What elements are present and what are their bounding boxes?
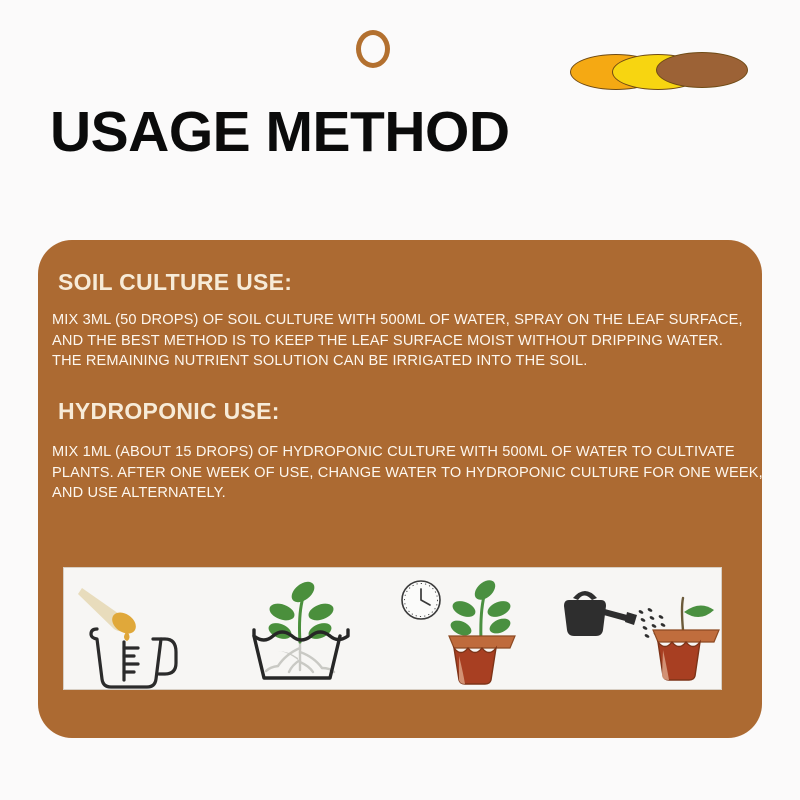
page-title: USAGE METHOD — [50, 104, 510, 161]
section-heading-hydroponic: HYDROPONIC USE: — [58, 398, 280, 425]
pills-ornament — [570, 52, 750, 92]
section-body-hydroponic: MIX 1ML (ABOUT 15 DROPS) OF HYDROPONIC C… — [52, 442, 752, 504]
panel-wait — [393, 568, 557, 689]
pill-brown-icon — [656, 52, 748, 88]
plant-in-water-basin-icon — [254, 578, 348, 678]
illustration-strip — [63, 567, 722, 690]
panel-hydroponic-basin — [228, 568, 392, 689]
potted-seedling-icon — [653, 598, 719, 680]
body-line: AND USE ALTERNATELY. — [52, 483, 752, 504]
usage-method-card: SOIL CULTURE USE: MIX 3ML (50 DROPS) OF … — [38, 240, 762, 738]
potted-plant-icon — [448, 576, 515, 684]
body-line: AND THE BEST METHOD IS TO KEEP THE LEAF … — [52, 331, 752, 352]
measuring-cup-icon — [91, 629, 176, 687]
clock-icon — [402, 581, 440, 619]
section-heading-soil-culture: SOIL CULTURE USE: — [58, 269, 292, 296]
panel-water — [557, 568, 721, 689]
panel-measure — [64, 568, 228, 689]
ring-ornament — [356, 30, 390, 68]
dropper-icon — [78, 588, 140, 641]
body-line: THE REMAINING NUTRIENT SOLUTION CAN BE I… — [52, 351, 752, 372]
section-body-soil-culture: MIX 3ML (50 DROPS) OF SOIL CULTURE WITH … — [52, 310, 752, 372]
body-line: PLANTS. AFTER ONE WEEK OF USE, CHANGE WA… — [52, 463, 752, 484]
body-line: MIX 1ML (ABOUT 15 DROPS) OF HYDROPONIC C… — [52, 442, 752, 463]
body-line: MIX 3ML (50 DROPS) OF SOIL CULTURE WITH … — [52, 310, 752, 331]
watering-can-icon — [564, 591, 637, 636]
